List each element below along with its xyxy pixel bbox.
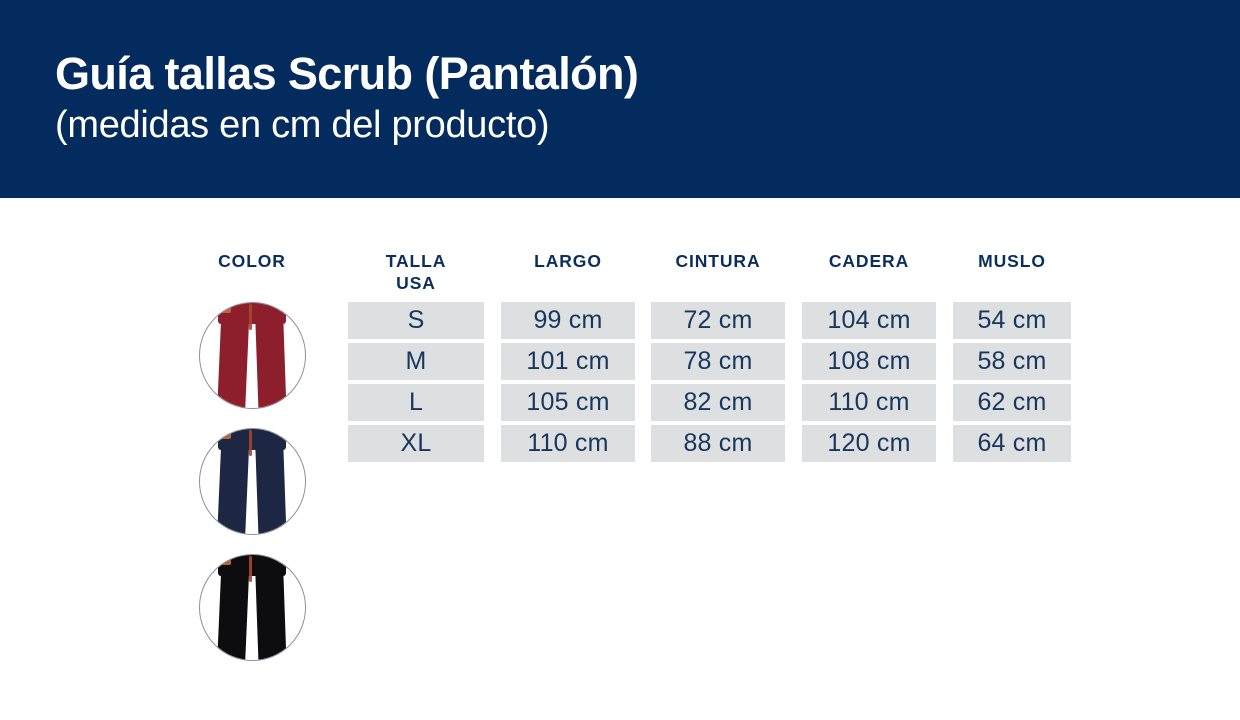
table-cell-cintura: 72 cm: [651, 302, 785, 339]
table-cell-largo: 110 cm: [501, 425, 635, 462]
table-cell-largo: 99 cm: [501, 302, 635, 339]
column-header-talla-usa: TALLA USA: [348, 250, 484, 295]
table-cell-cadera: 110 cm: [802, 384, 936, 421]
column-muslo: 54 cm 58 cm 62 cm 64 cm: [953, 302, 1071, 462]
pants-icon: [204, 554, 300, 661]
pants-icon: [204, 302, 300, 409]
table-cell-cadera: 104 cm: [802, 302, 936, 339]
color-swatch-column: [190, 302, 314, 661]
column-header-color: COLOR: [190, 250, 314, 272]
table-cell-muslo: 58 cm: [953, 343, 1071, 380]
column-cintura: 72 cm 78 cm 82 cm 88 cm: [651, 302, 785, 462]
color-swatch-black-pants: [199, 554, 306, 661]
column-header-largo: LARGO: [501, 250, 635, 272]
header-banner: Guía tallas Scrub (Pantalón) (medidas en…: [0, 0, 1240, 198]
column-talla-usa: S M L XL: [348, 302, 484, 462]
table-cell-talla: S: [348, 302, 484, 339]
column-header-cadera: CADERA: [802, 250, 936, 272]
column-header-cintura: CINTURA: [651, 250, 785, 272]
color-swatch-navy-pants: [199, 428, 306, 535]
table-cell-talla: M: [348, 343, 484, 380]
table-cell-cadera: 120 cm: [802, 425, 936, 462]
column-header-talla-line1: TALLA: [386, 251, 447, 271]
table-cell-largo: 105 cm: [501, 384, 635, 421]
table-cell-cadera: 108 cm: [802, 343, 936, 380]
table-cell-cintura: 82 cm: [651, 384, 785, 421]
table-cell-muslo: 62 cm: [953, 384, 1071, 421]
pants-icon: [204, 428, 300, 535]
column-header-talla-line2: USA: [396, 273, 436, 293]
column-cadera: 104 cm 108 cm 110 cm 120 cm: [802, 302, 936, 462]
size-guide-table: COLOR TALLA USA LARGO CINTURA CADERA MUS…: [0, 198, 1240, 720]
table-cell-cintura: 78 cm: [651, 343, 785, 380]
table-cell-muslo: 64 cm: [953, 425, 1071, 462]
table-cell-largo: 101 cm: [501, 343, 635, 380]
color-swatch-burgundy-pants: [199, 302, 306, 409]
table-cell-cintura: 88 cm: [651, 425, 785, 462]
page-subtitle: (medidas en cm del producto): [55, 103, 1240, 148]
page-title: Guía tallas Scrub (Pantalón): [55, 50, 1240, 98]
table-cell-muslo: 54 cm: [953, 302, 1071, 339]
table-header-row: COLOR TALLA USA LARGO CINTURA CADERA MUS…: [0, 250, 1240, 302]
column-largo: 99 cm 101 cm 105 cm 110 cm: [501, 302, 635, 462]
column-header-muslo: MUSLO: [953, 250, 1071, 272]
table-cell-talla: XL: [348, 425, 484, 462]
table-cell-talla: L: [348, 384, 484, 421]
